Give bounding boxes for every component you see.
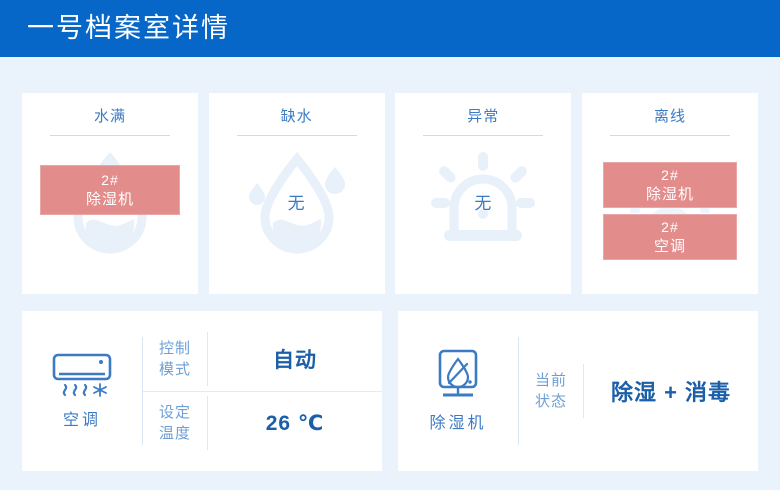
page-title: 一号档案室详情 [27,11,230,45]
status-card-abnormal[interactable]: 异常 无 [395,93,571,294]
title-divider [423,135,543,136]
alert-badge[interactable]: 2# 空调 [603,214,737,260]
status-card-row: 水满 2# 除湿机 缺水 [22,93,758,294]
status-card-water-shortage[interactable]: 缺水 无 [209,93,385,294]
card-title: 水满 [22,107,198,127]
attribute-label: 设定 温度 [143,402,207,444]
attribute-label-line: 控制 [143,338,207,359]
attribute-label: 控制 模式 [143,338,207,380]
attribute-row: 设定 温度 26 ℃ [143,391,382,456]
device-panel-row: 空调 控制 模式 自动 设定 温度 [22,311,758,471]
attribute-value: 26 ℃ [208,411,382,436]
title-divider [610,135,730,136]
alert-badge[interactable]: 2# 除湿机 [40,165,180,215]
attribute-label-line: 温度 [143,423,207,444]
device-label: 空调 [63,411,101,431]
attribute-label-line: 设定 [143,402,207,423]
attribute-value: 自动 [208,344,382,374]
alert-badge-list: 2# 除湿机 [22,141,198,294]
badge-number: 2# [661,218,679,237]
attribute-label: 当前 状态 [519,370,583,412]
status-card-water-full[interactable]: 水满 2# 除湿机 [22,93,198,294]
page-header: 一号档案室详情 [0,0,780,57]
attribute-label-line: 当前 [519,370,583,391]
dehumidifier-icon [431,348,485,407]
badge-device-name: 空调 [654,237,686,256]
alert-badge-list: 2# 除湿机 2# 空调 [582,141,758,281]
device-identity: 除湿机 [398,348,518,434]
attribute-value: 除湿 + 消毒 [584,375,758,407]
card-title: 离线 [582,107,758,127]
device-attribute-list: 当前 状态 除湿 + 消毒 [519,327,758,455]
status-card-offline[interactable]: 离线 2# 除湿机 2# 空调 [582,93,758,294]
badge-number: 2# [661,166,679,185]
device-panel-air-conditioner[interactable]: 空调 控制 模式 自动 设定 温度 [22,311,382,471]
device-attribute-list: 控制 模式 自动 设定 温度 26 ℃ [143,327,382,455]
air-conditioner-icon [51,351,113,404]
card-empty-text: 无 [395,141,571,261]
device-panel-dehumidifier[interactable]: 除湿机 当前 状态 除湿 + 消毒 [398,311,758,471]
title-divider [50,135,170,136]
badge-device-name: 除湿机 [86,190,134,209]
card-title: 缺水 [209,107,385,127]
app-root: 一号档案室详情 水满 2# 除湿机 [0,0,780,490]
attribute-row: 控制 模式 自动 [143,327,382,391]
card-empty-text: 无 [209,141,385,261]
badge-number: 2# [101,171,119,190]
alert-badge[interactable]: 2# 除湿机 [603,162,737,208]
device-identity: 空调 [22,351,142,431]
attribute-label-line: 状态 [519,391,583,412]
card-title: 异常 [395,107,571,127]
badge-device-name: 除湿机 [646,185,694,204]
attribute-label-line: 模式 [143,359,207,380]
title-divider [237,135,357,136]
device-label: 除湿机 [429,414,486,434]
attribute-row: 当前 状态 除湿 + 消毒 [519,361,758,421]
